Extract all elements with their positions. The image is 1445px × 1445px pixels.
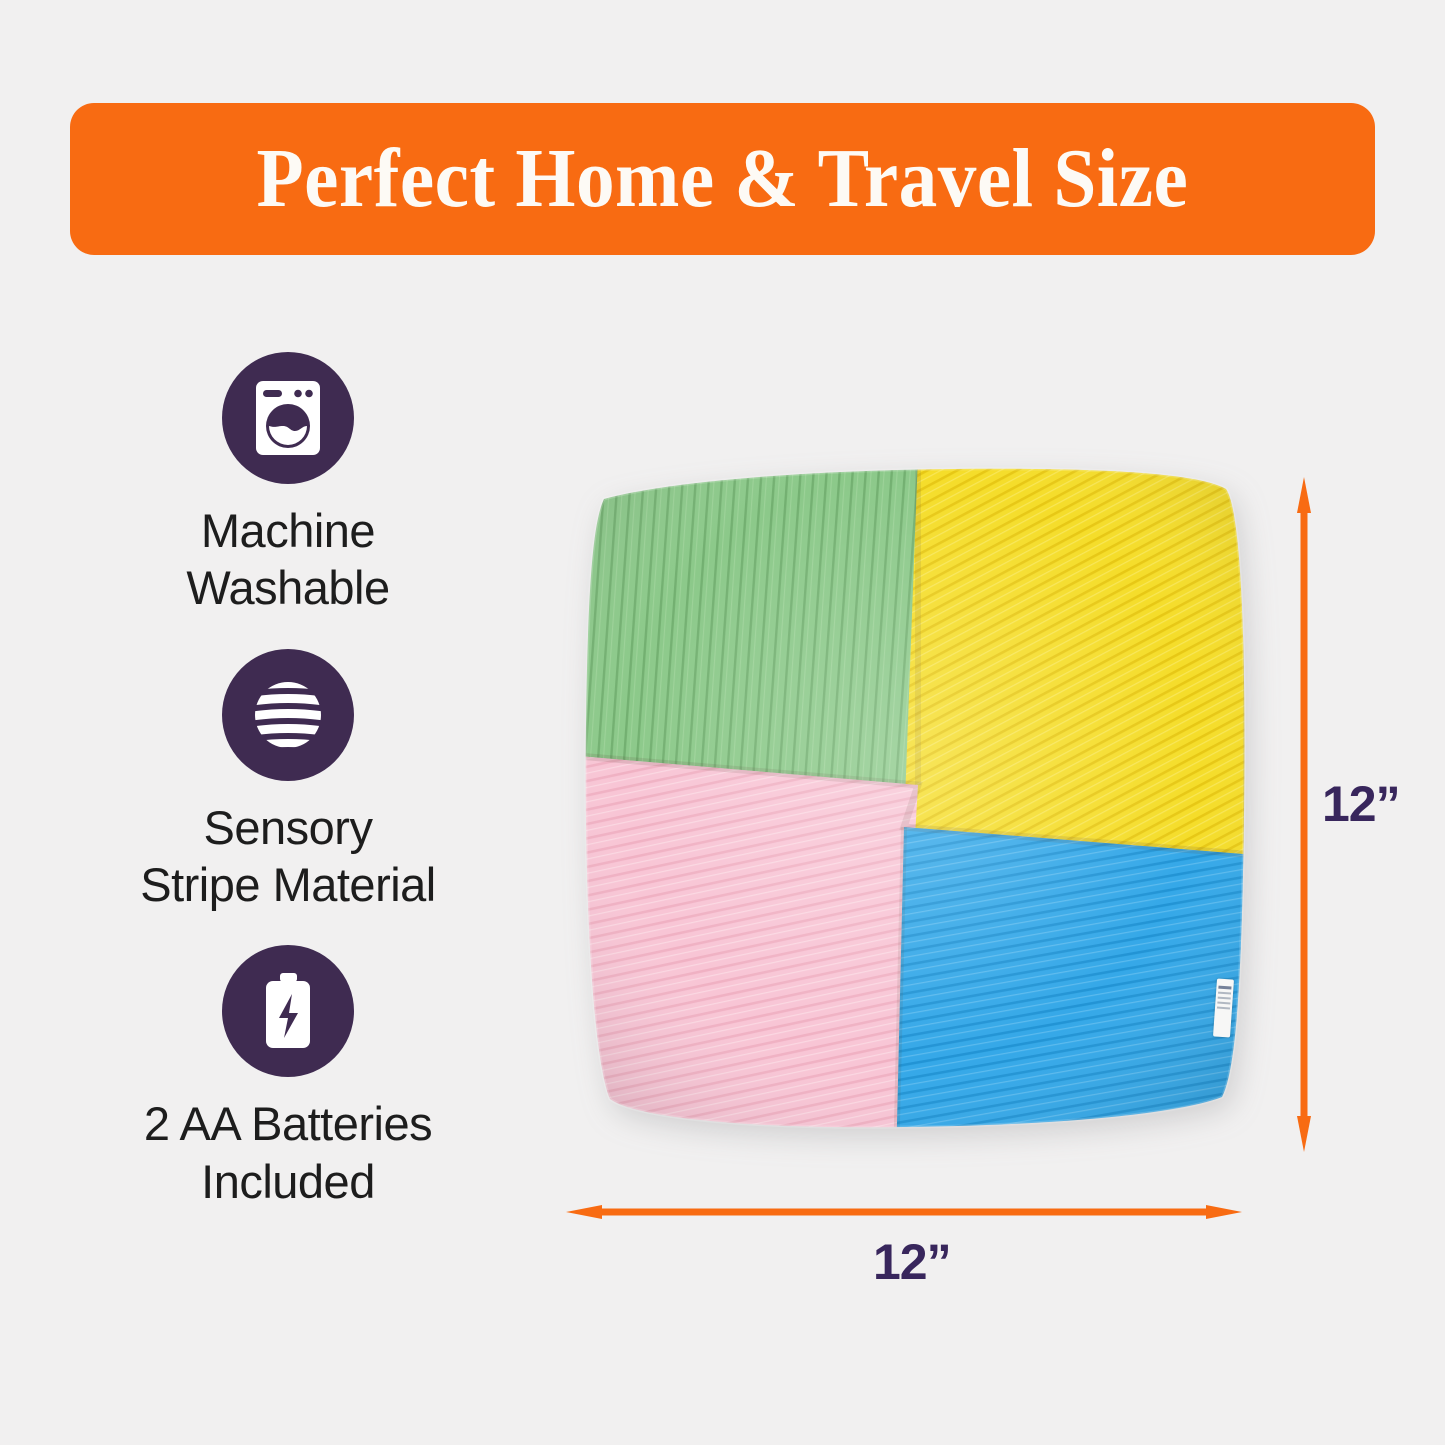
feature-label-line1: Sensory	[204, 801, 373, 854]
dimension-arrow-vertical	[1297, 477, 1311, 1152]
header-banner: Perfect Home & Travel Size	[70, 103, 1375, 255]
page-title: Perfect Home & Travel Size	[257, 137, 1189, 221]
dimension-label-width: 12”	[873, 1233, 951, 1291]
feature-label-batteries: 2 AA Batteries Included	[144, 1095, 432, 1210]
feature-label-sensory-stripe: Sensory Stripe Material	[140, 799, 436, 914]
color-block-pillow	[566, 455, 1256, 1165]
washing-machine-icon	[222, 352, 354, 484]
feature-label-line2: Stripe Material	[140, 858, 436, 911]
dimension-label-height: 12”	[1322, 775, 1400, 833]
feature-label-line2: Washable	[186, 561, 389, 614]
striped-sphere-icon	[222, 649, 354, 781]
dimension-arrow-horizontal	[566, 1205, 1242, 1219]
infographic-canvas: Perfect Home & Travel Size Machine Washa…	[0, 0, 1445, 1445]
feature-item-batteries: 2 AA Batteries Included	[58, 945, 518, 1210]
feature-label-line1: Machine	[201, 504, 375, 557]
feature-label-machine-washable: Machine Washable	[186, 502, 389, 617]
product-image	[566, 455, 1256, 1165]
feature-item-machine-washable: Machine Washable	[58, 352, 518, 617]
feature-label-line2: Included	[201, 1155, 375, 1208]
feature-list: Machine Washable	[58, 352, 518, 1210]
feature-label-line1: 2 AA Batteries	[144, 1097, 432, 1150]
feature-item-sensory-stripe: Sensory Stripe Material	[58, 649, 518, 914]
battery-bolt-icon	[222, 945, 354, 1077]
